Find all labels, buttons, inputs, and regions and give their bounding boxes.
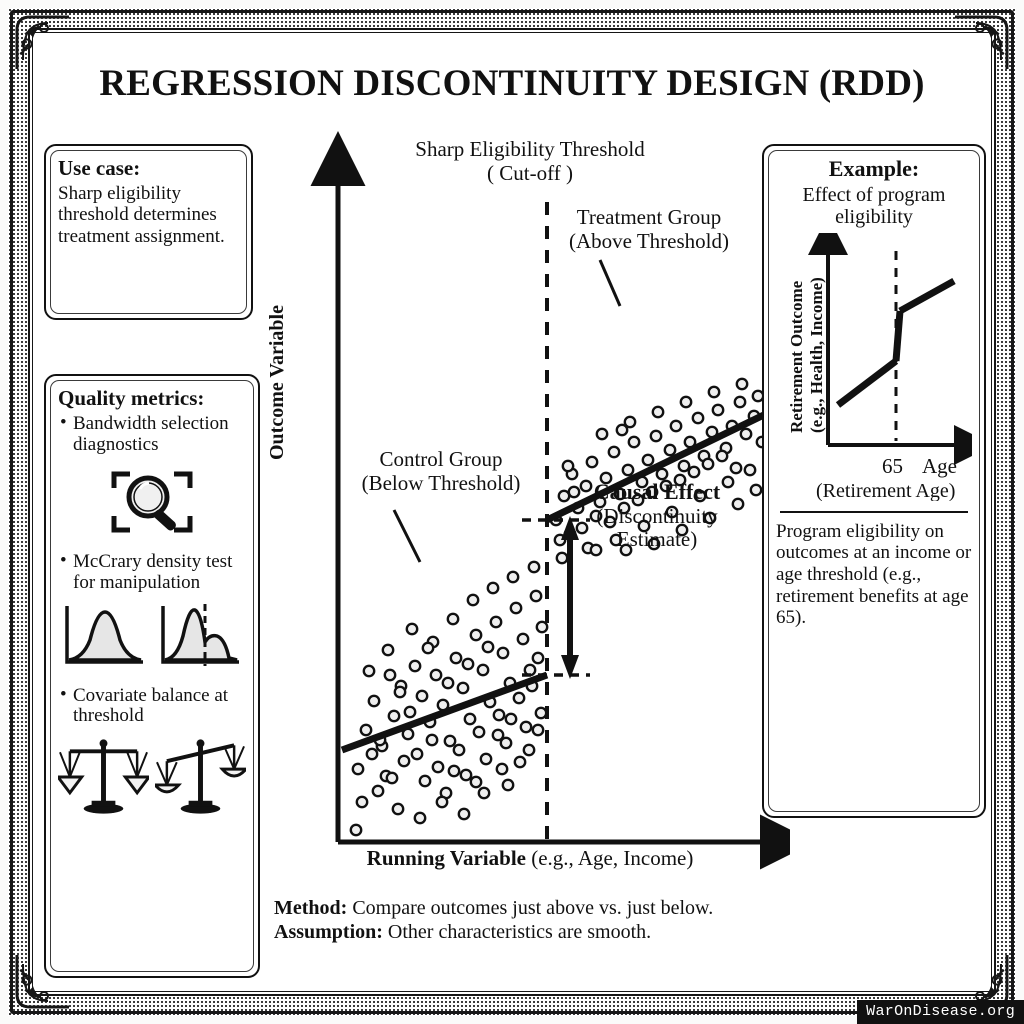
quality-metric-item: Bandwidth selection diagnostics (58, 414, 246, 456)
site-watermark: WarOnDisease.org (857, 1000, 1024, 1024)
example-body: Program eligibility on outcomes at an in… (776, 521, 972, 629)
example-divider (780, 511, 968, 513)
rdd-scatter-chart: Sharp Eligibility Threshold ( Cut-off ) … (270, 130, 790, 890)
mini-chart-x-sub-label: (Retirement Age) (816, 480, 955, 501)
treatment-group-label: Treatment Group (Above Threshold) (534, 206, 764, 253)
density-plots-icon (58, 600, 246, 676)
control-scatter-points (351, 562, 547, 835)
example-subtitle: Effect of program eligibility (776, 184, 972, 229)
method-note: Method: Compare outcomes just above vs. … (274, 896, 794, 920)
example-mini-chart: Retirement Outcome (e.g., Health, Income… (776, 233, 972, 501)
quality-metric-item: Covariate balance at threshold (58, 686, 246, 728)
magnifier-focus-icon (58, 462, 246, 542)
mini-chart-x-tick: 65 (882, 454, 903, 478)
use-case-heading: Use case: (58, 156, 239, 181)
threshold-title: Sharp Eligibility Threshold ( Cut-off ) (330, 138, 730, 185)
page-title: REGRESSION DISCONTINUITY DESIGN (RDD) (34, 62, 990, 105)
example-heading: Example: (776, 156, 972, 182)
mini-chart-y-label-line2: (e.g., Health, Income) (807, 277, 826, 433)
mini-chart-y-label-line1: Retirement Outcome (787, 280, 806, 433)
x-axis-label: Running Variable (e.g., Age, Income) (270, 846, 790, 871)
quality-metrics-heading: Quality metrics: (58, 386, 246, 411)
mini-chart-x-label: Age (922, 454, 957, 478)
quality-metrics-card: Quality metrics: Bandwidth selection dia… (44, 374, 260, 978)
use-case-body: Sharp eligibility threshold determines t… (58, 183, 239, 247)
example-card: Example: Effect of program eligibility R… (762, 144, 986, 818)
causal-effect-label: Causal Effect (Discontinuity Estimate) (562, 480, 752, 552)
use-case-card: Use case: Sharp eligibility threshold de… (44, 144, 253, 320)
y-axis-label: Outcome Variable (266, 305, 289, 460)
balance-scales-icon (58, 733, 246, 823)
quality-metric-item: McCrary density test for manipulation (58, 552, 246, 594)
control-leader-line (394, 510, 420, 562)
poster-page: REGRESSION DISCONTINUITY DESIGN (RDD) Us… (0, 0, 1024, 1024)
method-assumption-notes: Method: Compare outcomes just above vs. … (274, 896, 794, 944)
treatment-leader-line (600, 260, 620, 306)
content-stage: REGRESSION DISCONTINUITY DESIGN (RDD) Us… (34, 34, 990, 990)
control-group-label: Control Group (Below Threshold) (326, 448, 556, 495)
assumption-note: Assumption: Other characteristics are sm… (274, 920, 794, 944)
